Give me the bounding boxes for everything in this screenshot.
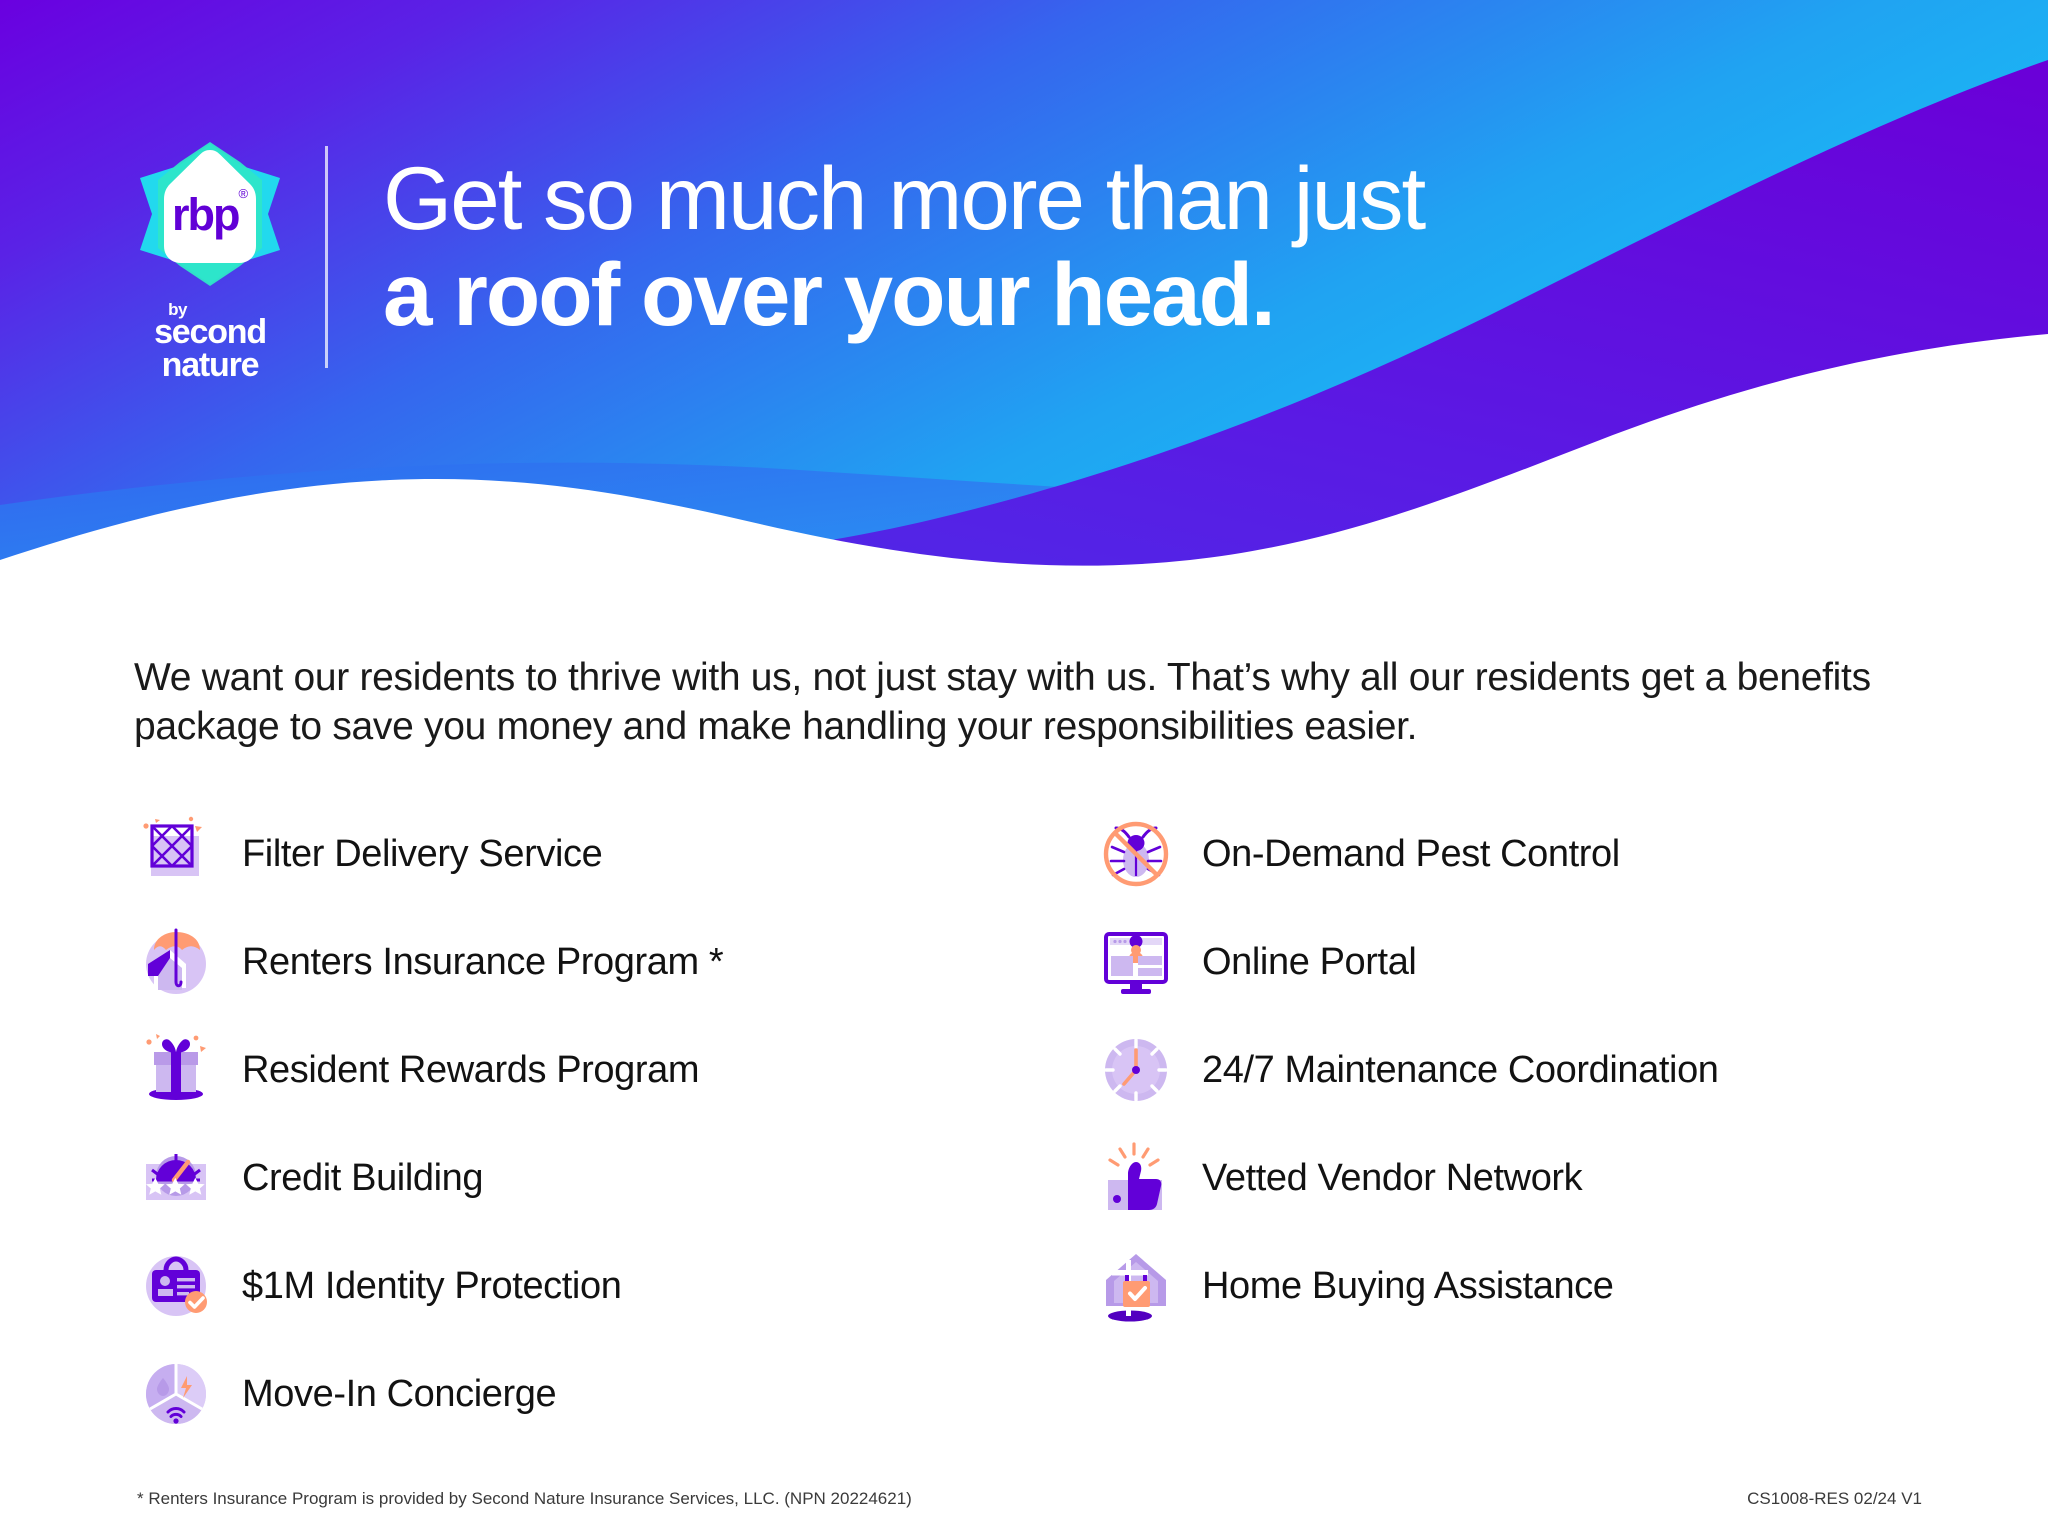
benefits-right-column: On-Demand Pest Control xyxy=(1094,800,1934,1448)
benefit-item: Renters Insurance Program * xyxy=(134,908,1094,1016)
benefit-item: Resident Rewards Program xyxy=(134,1016,1094,1124)
benefit-label: Move-In Concierge xyxy=(242,1373,556,1416)
benefit-label: Online Portal xyxy=(1202,941,1416,984)
by-second-nature-wordmark: by second nature xyxy=(154,302,266,382)
benefit-label: Credit Building xyxy=(242,1157,483,1200)
benefit-label: On-Demand Pest Control xyxy=(1202,833,1620,876)
header-banner: rbp ® by second nature Get so much more … xyxy=(0,0,2048,600)
benefit-label: Filter Delivery Service xyxy=(242,833,602,876)
registered-mark: ® xyxy=(238,186,248,201)
desktop-portal-icon xyxy=(1094,920,1178,1004)
logo-brand-line1: second xyxy=(154,316,266,349)
no-pest-icon xyxy=(1094,812,1178,896)
headline-line-1: Get so much more than just xyxy=(383,150,1424,246)
benefit-item: Filter Delivery Service xyxy=(134,800,1094,908)
benefit-item: On-Demand Pest Control xyxy=(1094,800,1934,908)
benefit-item: $1M Identity Protection xyxy=(134,1232,1094,1340)
clock-icon xyxy=(1094,1028,1178,1112)
logo-brand-line2: nature xyxy=(154,349,266,382)
document-code: CS1008-RES 02/24 V1 xyxy=(1747,1489,1922,1509)
benefit-item: Vetted Vendor Network xyxy=(1094,1124,1934,1232)
benefit-item: Move-In Concierge xyxy=(134,1340,1094,1448)
benefits-grid: Filter Delivery Service Renters Insuranc… xyxy=(134,800,1934,1448)
benefit-label: Renters Insurance Program * xyxy=(242,941,723,984)
home-sign-check-icon xyxy=(1094,1244,1178,1328)
credit-gauge-icon xyxy=(134,1136,218,1220)
utilities-setup-icon xyxy=(134,1352,218,1436)
thumbs-up-icon xyxy=(1094,1136,1178,1220)
intro-paragraph: We want our residents to thrive with us,… xyxy=(134,653,1924,751)
poster-root: rbp ® by second nature Get so much more … xyxy=(0,0,2048,1536)
gift-box-icon xyxy=(134,1028,218,1112)
benefit-label: Resident Rewards Program xyxy=(242,1049,699,1092)
benefit-item: Home Buying Assistance xyxy=(1094,1232,1934,1340)
air-filter-icon xyxy=(134,812,218,896)
logo-headline-divider xyxy=(325,146,328,368)
footnote-text: * Renters Insurance Program is provided … xyxy=(137,1489,912,1509)
headline-line-2: a roof over your head. xyxy=(383,246,1424,342)
benefit-item: 24/7 Maintenance Coordination xyxy=(1094,1016,1934,1124)
benefit-item: Online Portal xyxy=(1094,908,1934,1016)
benefit-label: $1M Identity Protection xyxy=(242,1265,621,1308)
benefit-label: Home Buying Assistance xyxy=(1202,1265,1614,1308)
rbp-logo-mark: rbp ® xyxy=(136,140,284,288)
benefits-left-column: Filter Delivery Service Renters Insuranc… xyxy=(134,800,1094,1448)
id-badge-check-icon xyxy=(134,1244,218,1328)
rbp-logo: rbp ® by second nature xyxy=(130,140,290,370)
umbrella-house-icon xyxy=(134,920,218,1004)
benefit-label: 24/7 Maintenance Coordination xyxy=(1202,1049,1719,1092)
headline: Get so much more than just a roof over y… xyxy=(383,150,1424,342)
rbp-logo-text: rbp xyxy=(172,192,239,237)
benefit-item: Credit Building xyxy=(134,1124,1094,1232)
benefit-label: Vetted Vendor Network xyxy=(1202,1157,1582,1200)
